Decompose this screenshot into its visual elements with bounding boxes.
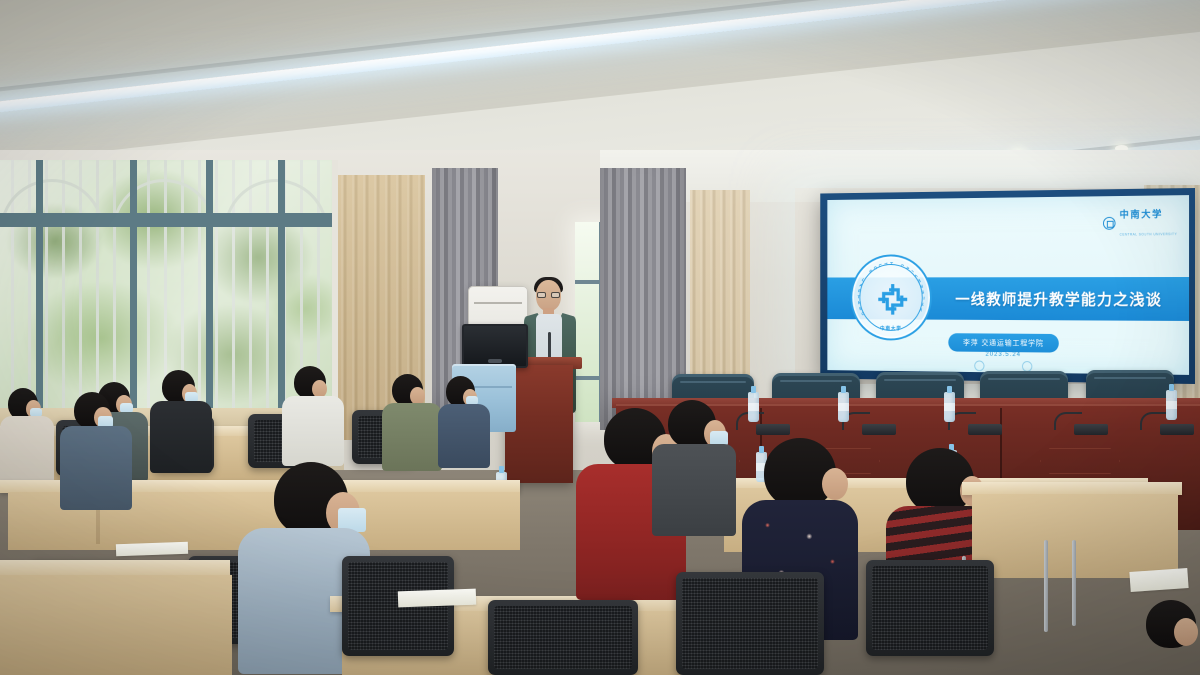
document-on-desk [1129,568,1188,592]
presenter-affiliation-pill: 李萍 交通运输工程学院 [948,333,1059,352]
torso [438,404,490,468]
water-bottle [838,392,849,422]
eyeglasses-icon [537,292,560,298]
chair-chrome-leg [1044,540,1048,632]
slide-surface: 中南大学 CENTRAL SOUTH UNIVERSITY CENTRAL SO… [827,195,1189,375]
gooseneck-microphone [756,424,790,435]
university-logo: 中南大学 CENTRAL SOUTH UNIVERSITY [1103,204,1177,240]
gooseneck-microphone [1074,424,1108,435]
desk-top [0,560,230,576]
lecture-hall-photo: 中南大学 CENTRAL SOUTH UNIVERSITY CENTRAL SO… [0,0,1200,675]
decorative-fan-grille [0,179,104,220]
audience-member [150,370,212,472]
audience-member [652,400,736,532]
window-rail [0,220,332,227]
slide-date: 2023.5.24 [985,351,1021,358]
led-presentation-screen[interactable]: 中南大学 CENTRAL SOUTH UNIVERSITY CENTRAL SO… [820,188,1195,384]
university-logo-en: CENTRAL SOUTH UNIVERSITY [1120,232,1178,236]
torso [0,416,54,486]
torso [60,426,132,510]
water-bottle [944,392,955,422]
chair-chrome-leg [1072,540,1076,626]
gooseneck-microphone [968,424,1002,435]
water-bottle [1166,390,1177,420]
slide-main-title: 一线教师提升教学能力之浅谈 [943,277,1175,321]
audience-member [1140,600,1200,675]
face [1174,618,1198,646]
podium-monitor[interactable] [462,324,528,368]
decorative-circle [974,360,984,371]
water-bottle [748,392,759,422]
torso [382,403,442,471]
torso [652,444,736,536]
decorative-fan-grille [112,179,216,220]
university-seal-icon: CENTRAL SOUTH UNIVERSITY 中南大学 [850,254,931,340]
audience-member [0,388,54,484]
torso [282,396,344,466]
dais-decorative-panel [1040,448,1120,474]
desk-panel [0,575,232,675]
document-on-desk [116,542,188,557]
document-on-desk [398,589,477,608]
face [822,468,848,500]
audience-member [282,366,344,466]
gooseneck-microphone [862,424,896,435]
gooseneck-microphone [1160,424,1194,435]
audience-chair[interactable] [488,600,638,675]
university-logo-cn: 中南大学 [1120,209,1163,220]
audience-member [60,392,132,508]
seal-center-cn: 中南大学 [852,325,930,332]
audience-chair[interactable] [676,572,824,675]
csu-logo-mark-icon [1103,216,1116,229]
audience-member [438,376,490,468]
audience-chair[interactable] [866,560,994,656]
torso [150,401,212,473]
decorative-fan-grille [224,179,328,220]
audience-member [382,374,442,470]
